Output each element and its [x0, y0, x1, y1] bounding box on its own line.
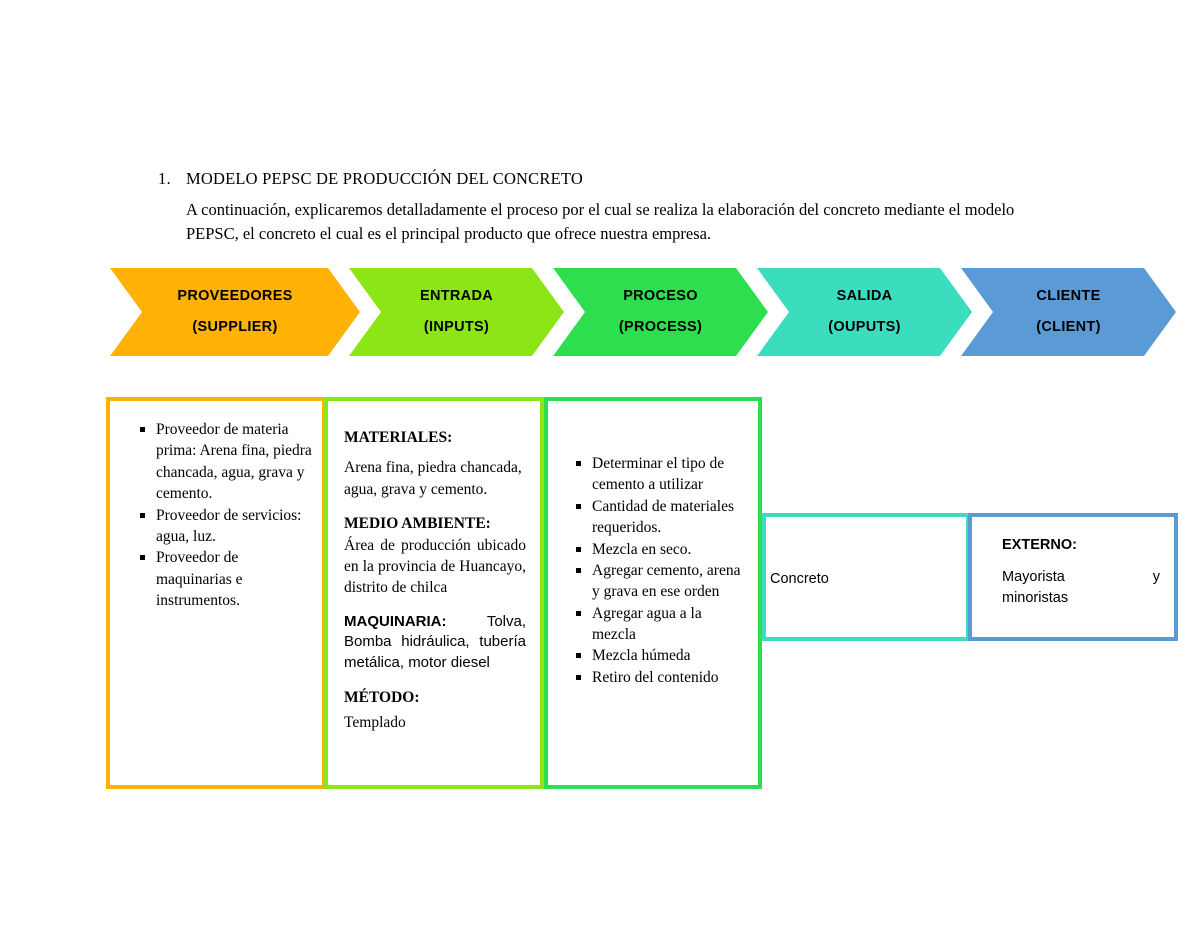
inputs-metodo-body: Templado	[344, 712, 526, 733]
chevron-proveedores-title: PROVEEDORES	[177, 283, 292, 311]
inputs-materiales-body: Arena fina, piedra chancada, agua, grava…	[344, 457, 526, 500]
inputs-section-metodo: MÉTODO: Templado	[344, 687, 526, 734]
inputs-content-box: MATERIALES: Arena fina, piedra chancada,…	[324, 397, 544, 789]
inputs-maquinaria-label: MAQUINARIA:	[344, 613, 447, 630]
inputs-sections: MATERIALES: Arena fina, piedra chancada,…	[344, 427, 526, 733]
chevron-salida-title: SALIDA	[837, 283, 893, 311]
suppliers-content-box: Proveedor de materia prima: Arena fina, …	[106, 397, 326, 789]
inputs-materiales-label: MATERIALES:	[344, 429, 452, 446]
process-bullet-list: Determinar el tipo de cemento a utilizar…	[570, 453, 748, 688]
chevron-proveedores: PROVEEDORES (SUPPLIER)	[110, 268, 360, 356]
chevron-salida: SALIDA (OUPUTS)	[757, 268, 972, 356]
client-line-1: Mayorista y	[1002, 567, 1160, 588]
client-conjunction: y	[1153, 567, 1160, 588]
heading-number: 1.	[158, 168, 186, 190]
chevron-entrada: ENTRADA (INPUTS)	[349, 268, 564, 356]
intro-paragraph: A continuación, explicaremos detalladame…	[158, 198, 1058, 246]
chevron-entrada-subtitle: (INPUTS)	[424, 314, 489, 342]
list-item: Proveedor de maquinarias e instrumentos.	[134, 547, 312, 611]
list-item: Proveedor de servicios: agua, luz.	[134, 505, 312, 548]
list-item: Cantidad de materiales requeridos.	[570, 496, 748, 539]
inputs-medio-ambiente-label: MEDIO AMBIENTE:	[344, 515, 491, 532]
chevron-salida-subtitle: (OUPUTS)	[828, 314, 900, 342]
chevron-proceso-title: PROCESO	[623, 283, 698, 311]
chevron-proveedores-subtitle: (SUPPLIER)	[192, 314, 277, 342]
pepsc-chevron-banner: PROVEEDORES (SUPPLIER) ENTRADA (INPUTS) …	[110, 268, 1178, 356]
inputs-section-maquinaria: MAQUINARIA: Tolva, Bomba hidráulica, tub…	[344, 612, 526, 674]
chevron-cliente-title: CLIENTE	[1036, 283, 1100, 311]
list-item: Agregar agua a la mezcla	[570, 603, 748, 646]
chevron-cliente-subtitle: (CLIENT)	[1036, 314, 1100, 342]
list-item: Determinar el tipo de cemento a utilizar	[570, 453, 748, 496]
client-externo-label: EXTERNO:	[1002, 537, 1160, 553]
client-minoristas: minoristas	[1002, 588, 1160, 609]
client-mayorista: Mayorista	[1002, 567, 1065, 588]
list-item: Agregar cemento, arena y grava en ese or…	[570, 560, 748, 603]
client-externo-body: Mayorista y minoristas	[1002, 567, 1160, 609]
inputs-section-materiales: MATERIALES: Arena fina, piedra chancada,…	[344, 427, 526, 500]
inputs-medio-ambiente-body: Área de producción ubicado en la provinc…	[344, 535, 526, 599]
chevron-cliente: CLIENTE (CLIENT)	[961, 268, 1176, 356]
suppliers-bullet-list: Proveedor de materia prima: Arena fina, …	[134, 419, 312, 611]
inputs-section-medio-ambiente: MEDIO AMBIENTE: Área de producción ubica…	[344, 513, 526, 599]
client-sections: EXTERNO: Mayorista y minoristas	[1002, 537, 1160, 609]
outputs-content-box: Concreto	[762, 513, 970, 641]
inputs-metodo-label: MÉTODO:	[344, 689, 420, 706]
chevron-entrada-title: ENTRADA	[420, 283, 493, 311]
outputs-text: Concreto	[770, 571, 966, 587]
chevron-proceso: PROCESO (PROCESS)	[553, 268, 768, 356]
list-item: Mezcla en seco.	[570, 539, 748, 560]
page-title-row: 1. MODELO PEPSC DE PRODUCCIÓN DEL CONCRE…	[158, 168, 1058, 190]
list-item: Mezcla húmeda	[570, 645, 748, 666]
list-item: Proveedor de materia prima: Arena fina, …	[134, 419, 312, 505]
inputs-maquinaria-line: MAQUINARIA: Tolva, Bomba hidráulica, tub…	[344, 612, 526, 674]
process-content-box: Determinar el tipo de cemento a utilizar…	[544, 397, 762, 789]
client-content-box: EXTERNO: Mayorista y minoristas	[968, 513, 1178, 641]
page-title: MODELO PEPSC DE PRODUCCIÓN DEL CONCRETO	[186, 168, 1058, 190]
chevron-proceso-subtitle: (PROCESS)	[619, 314, 702, 342]
intro-block: 1. MODELO PEPSC DE PRODUCCIÓN DEL CONCRE…	[158, 168, 1058, 246]
list-item: Retiro del contenido	[570, 667, 748, 688]
